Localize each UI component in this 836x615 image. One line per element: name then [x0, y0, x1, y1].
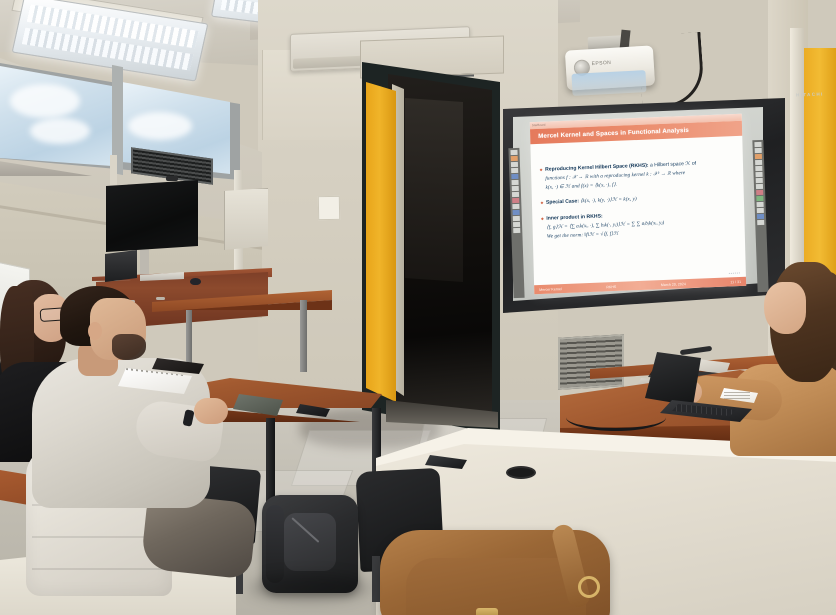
- toolbar-icon[interactable]: [512, 204, 519, 209]
- toolbar-icon[interactable]: [511, 156, 518, 161]
- nav-dots-glyph: • • • • • •: [729, 271, 740, 275]
- bullet-line-3: k(x, ·) ∈ ℋ and f(x) = ⟨k(x, ·), f⟩.: [545, 181, 617, 190]
- microphone[interactable]: [680, 346, 712, 355]
- bullet-text: Special Case: ⟨k(x, ·), k(y, ·)⟩ℋ = k(x,…: [546, 191, 735, 207]
- cloud: [128, 112, 192, 140]
- wall-conduit: [110, 155, 117, 185]
- toolbar-icon[interactable]: [756, 178, 763, 183]
- footer-date: March 20, 2024: [661, 282, 686, 287]
- slide-body: Reproducing Kernel Hilbert Space (RKHS):…: [540, 158, 736, 248]
- person-student-woman-tan-hoodie: [742, 268, 836, 448]
- bag-shadow: [250, 575, 370, 601]
- mouse[interactable]: [190, 278, 201, 285]
- bullet-text: Inner product in RKHS: ⟨f, g⟩ℋ = ⟨∑ aᵢk(…: [546, 207, 736, 241]
- yellow-door[interactable]: [366, 82, 396, 402]
- electrical-box: [224, 188, 270, 252]
- laptop-screen[interactable]: [645, 352, 701, 406]
- cloud: [30, 118, 90, 144]
- projector-brand: EPSON: [592, 60, 612, 67]
- desk-leg: [300, 300, 307, 372]
- wall-sign: [318, 196, 340, 220]
- bullet-line-2: We get the norm: ‖f‖ℋ = √⟨f, f⟩ℋ: [547, 230, 619, 239]
- bullet-line-1: ⟨f, g⟩ℋ = ⟨∑ aᵢk(xᵢ, ·), ∑ bⱼk(·, yⱼ)⟩ℋ …: [547, 220, 665, 231]
- laptop-cable: [566, 404, 666, 431]
- bullet-text: Reproducing Kernel Hilbert Space (RKHS):…: [545, 158, 735, 192]
- bullet-dot-icon: [541, 217, 544, 220]
- bullet-line-1: a Hilbert space ℋ of: [649, 161, 697, 169]
- paper-lines: [724, 392, 750, 399]
- slide-bullet: Inner product in RKHS: ⟨f, g⟩ℋ = ⟨∑ aᵢk(…: [541, 207, 736, 241]
- toolbar-icon[interactable]: [513, 216, 520, 221]
- toolbar-icon[interactable]: [511, 174, 518, 179]
- toolbar-icon[interactable]: [512, 186, 519, 191]
- slide-nav-dots: • • • • • •: [729, 271, 740, 275]
- toolbar-icon[interactable]: [755, 166, 762, 171]
- wall-monitor: [106, 180, 198, 252]
- slide-bullet: Reproducing Kernel Hilbert Space (RKHS):…: [540, 158, 735, 192]
- slide-corner-logo: StarBoard: [532, 123, 546, 128]
- footer-page-number: 11 / 31: [730, 279, 741, 283]
- person-student-man-grey-sweater: [26, 286, 241, 576]
- toolbar-icon[interactable]: [755, 160, 762, 165]
- beard: [112, 334, 146, 360]
- air-vent: [558, 334, 624, 389]
- cable-grommet[interactable]: [506, 466, 536, 479]
- slide-bullet: Special Case: ⟨k(x, ·), k(y, ·)⟩ℋ = k(x,…: [541, 191, 735, 208]
- toolbar-icon[interactable]: [512, 180, 519, 185]
- classroom-photo: EPSON HITACHI: [0, 0, 836, 615]
- footer-section: RKHS: [606, 284, 616, 288]
- toolbar-icon[interactable]: [756, 184, 763, 189]
- toolbar-icon[interactable]: [757, 220, 764, 225]
- chair-leg: [372, 556, 380, 602]
- whiteboard-brand: HITACHI: [796, 91, 824, 97]
- toolbar-icon[interactable]: [511, 168, 518, 173]
- face: [764, 282, 806, 334]
- toolbar-icon[interactable]: [756, 190, 763, 195]
- jacket-seam: [32, 568, 169, 570]
- bag-ring-icon: [578, 576, 600, 598]
- toolbar-icon[interactable]: [755, 172, 762, 177]
- projector-cable: [638, 32, 706, 109]
- toolbar-icon[interactable]: [510, 150, 517, 155]
- toolbar-icon[interactable]: [512, 192, 519, 197]
- ear: [88, 322, 102, 340]
- toolbar-icon[interactable]: [757, 208, 764, 213]
- footer-author: Mercer Kernel: [539, 287, 562, 292]
- backpack-strap: [266, 505, 284, 583]
- toolbar-icon[interactable]: [754, 142, 761, 147]
- leather-bag[interactable]: [380, 530, 610, 615]
- toolbar-icon[interactable]: [755, 148, 762, 153]
- corridor-door: [405, 98, 463, 282]
- toolbar-icon[interactable]: [755, 154, 762, 159]
- webcam-icon: [166, 176, 178, 181]
- toolbar-icon[interactable]: [511, 162, 518, 167]
- projected-slide: Mercel Kernel and Spaces in Functional A…: [530, 114, 746, 294]
- toolbar-icon[interactable]: [756, 196, 763, 201]
- bag-buckle-icon: [476, 608, 498, 615]
- monitor-arm: [140, 248, 149, 276]
- bullet-heading: Inner product in RKHS:: [546, 213, 602, 221]
- cloud: [10, 84, 80, 118]
- bullet-dot-icon: [541, 202, 544, 205]
- hands: [194, 398, 228, 424]
- toolbar-icon[interactable]: [513, 228, 520, 233]
- bullet-line-1: ⟨k(x, ·), k(y, ·)⟩ℋ = k(x, y): [579, 196, 637, 204]
- desktop-pc: [105, 250, 137, 282]
- toolbar-icon[interactable]: [513, 210, 520, 215]
- bullet-heading: Special Case:: [546, 199, 579, 206]
- toolbar-icon[interactable]: [757, 202, 764, 207]
- toolbar-icon[interactable]: [757, 214, 764, 219]
- projector-light-beam: [571, 70, 646, 96]
- toolbar-icon[interactable]: [512, 198, 519, 203]
- bullet-dot-icon: [540, 168, 543, 171]
- toolbar-icon[interactable]: [513, 222, 520, 227]
- backpack-pocket: [284, 513, 336, 571]
